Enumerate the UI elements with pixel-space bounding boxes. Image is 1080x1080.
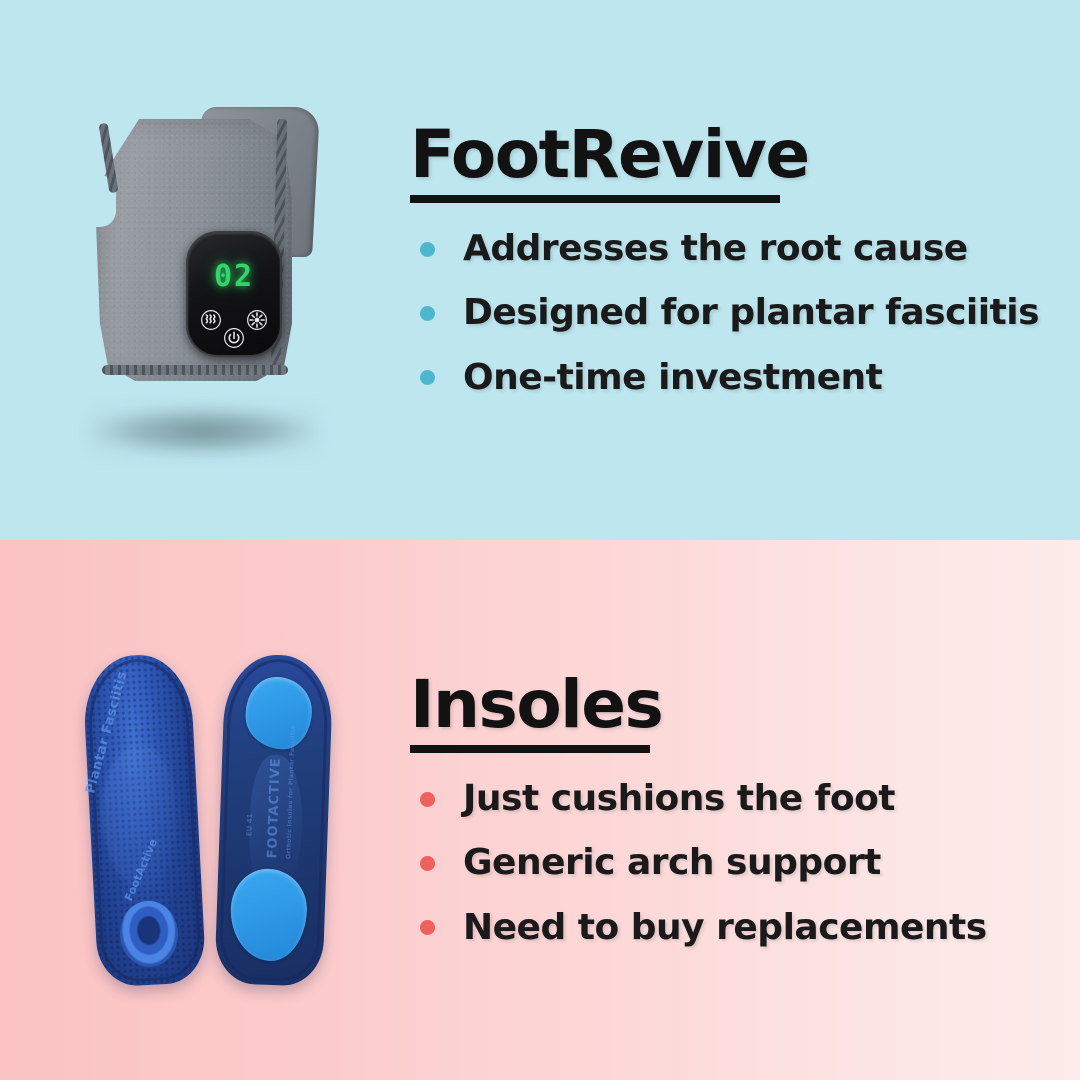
drawback-label: Need to buy replacements (463, 908, 987, 948)
gel-insoles-image: Plantar Fasciitis FootActive FOOTACTIVE … (80, 655, 350, 995)
control-panel[interactable]: 02 (186, 231, 282, 357)
power-icon[interactable] (223, 327, 245, 349)
snowflake-icon[interactable] (246, 309, 268, 331)
stitched-seam-bottom (102, 365, 288, 375)
list-item: Designed for plantar fasciitis (410, 293, 1060, 333)
drawback-label: Just cushions the foot (463, 779, 895, 819)
insoles-heading: Insoles (410, 672, 662, 747)
bullet-dot-icon (420, 306, 435, 321)
temperature-level-display: 02 (188, 259, 280, 294)
footrevive-section: 02 (0, 0, 1080, 540)
benefit-label: One-time investment (463, 358, 882, 398)
drawback-label: Generic arch support (463, 843, 881, 883)
list-item: Generic arch support (410, 843, 1060, 883)
insoles-drawback-list: Just cushions the foot Generic arch supp… (410, 779, 1060, 948)
bullet-dot-icon (420, 242, 435, 257)
insole-left-topside: Plantar Fasciitis FootActive (81, 652, 206, 987)
list-item: Just cushions the foot (410, 779, 1060, 819)
list-item: Addresses the root cause (410, 229, 1060, 269)
insoles-text-block: Insoles Just cushions the foot Generic a… (410, 672, 1060, 948)
comparison-infographic: 02 (0, 0, 1080, 1080)
bullet-dot-icon (420, 920, 435, 935)
footrevive-benefit-list: Addresses the root cause Designed for pl… (410, 229, 1060, 398)
list-item: One-time investment (410, 358, 1060, 398)
benefit-label: Addresses the root cause (463, 229, 968, 269)
insole-shell (214, 653, 333, 987)
bullet-dot-icon (420, 792, 435, 807)
footrevive-text-block: FootRevive Addresses the root cause Desi… (410, 122, 1060, 398)
footrevive-heading: FootRevive (410, 122, 809, 197)
bullet-dot-icon (420, 370, 435, 385)
heated-foot-wrap-image: 02 (70, 95, 340, 475)
benefit-label: Designed for plantar fasciitis (463, 293, 1039, 333)
list-item: Need to buy replacements (410, 908, 1060, 948)
insole-right-underside: FOOTACTIVE Orthotic Insoles for Plantar … (214, 653, 333, 987)
product-drop-shadow (88, 407, 318, 455)
bullet-dot-icon (420, 856, 435, 871)
wrap-body: 02 (88, 103, 310, 385)
insoles-section: Plantar Fasciitis FootActive FOOTACTIVE … (0, 540, 1080, 1080)
insole-shell (81, 652, 206, 987)
heat-waves-icon[interactable] (200, 309, 222, 331)
